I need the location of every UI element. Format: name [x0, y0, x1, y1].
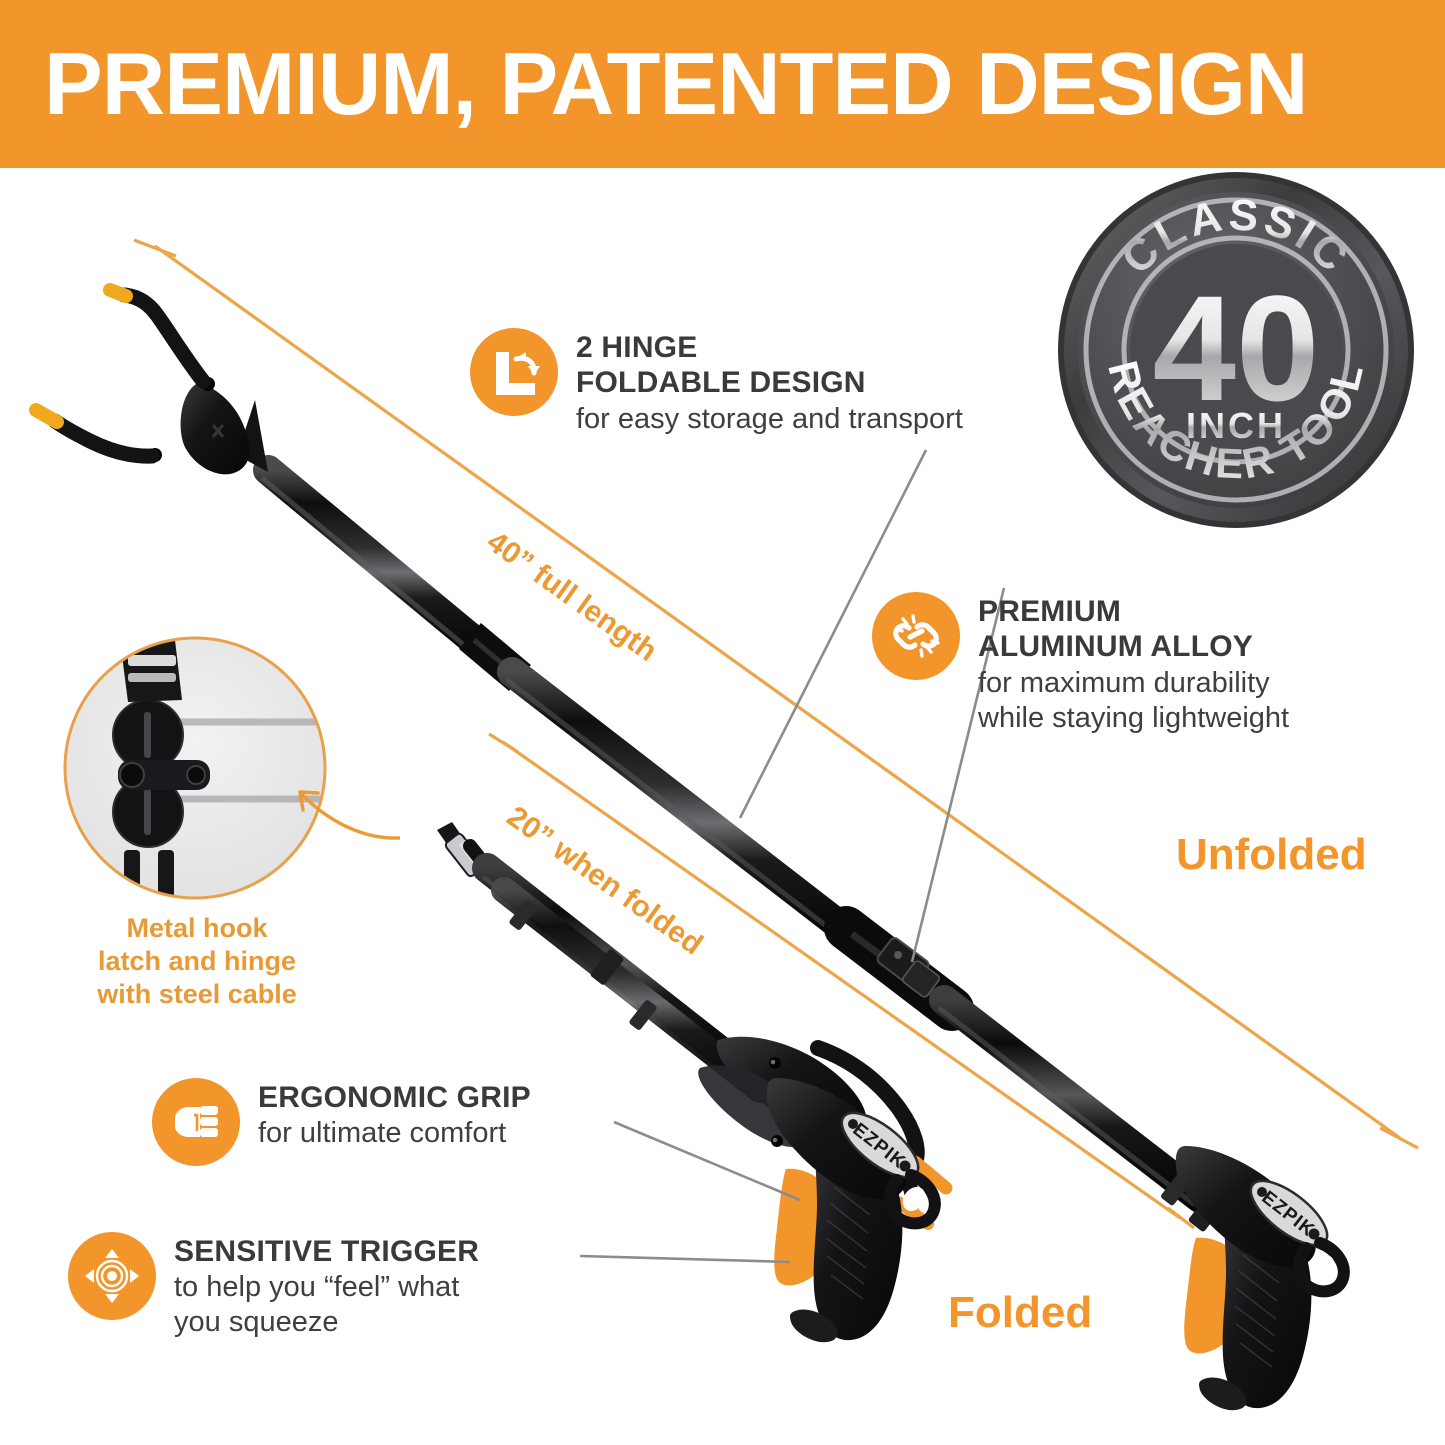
infographic-canvas: EZPIK: [0, 0, 1445, 1445]
header-banner: PREMIUM, PATENTED DESIGN: [0, 0, 1445, 168]
page-title: PREMIUM, PATENTED DESIGN: [0, 40, 1307, 128]
callout-title: 2 HINGE FOLDABLE DESIGN: [576, 330, 963, 401]
classic-40-inch-badge: CLASSIC 40 INCH REACHER TOOL: [1052, 166, 1420, 534]
leader-lines: [580, 450, 1004, 1262]
brand-nameplate: EZPIK: [1241, 1170, 1337, 1257]
folded-jaw-arms: [818, 1048, 946, 1224]
svg-text:EZPIK: EZPIK: [849, 1119, 910, 1173]
folded-handle-assembly: EZPIK: [767, 1078, 935, 1342]
state-label-folded: Folded: [948, 1288, 1092, 1338]
callout-subtitle: to help you “feel” what you squeeze: [174, 1270, 479, 1340]
sensitivity-target-icon: [68, 1232, 156, 1320]
hinge-detail-magnifier: [65, 638, 400, 905]
callout-ergonomic-grip[interactable]: ERGONOMIC GRIP for ultimate comfort: [152, 1078, 622, 1166]
callout-subtitle: for maximum durability while staying lig…: [978, 666, 1289, 736]
folded-jaw-tip: [437, 822, 500, 884]
callout-premium-aluminum-alloy[interactable]: PREMIUM ALUMINUM ALLOY for maximum durab…: [872, 592, 1392, 735]
mid-hinge-joint: [846, 928, 952, 1009]
callout-subtitle: for easy storage and transport: [576, 402, 963, 437]
unfolded-handle-assembly: EZPIK: [1176, 1146, 1344, 1410]
callout-title: ERGONOMIC GRIP: [258, 1080, 531, 1115]
callout-two-hinge-foldable[interactable]: 2 HINGE FOLDABLE DESIGN for easy storage…: [470, 328, 1040, 437]
callout-sensitive-trigger[interactable]: SENSITIVE TRIGGER to help you “feel” wha…: [68, 1232, 578, 1340]
trigger: [1184, 1238, 1250, 1354]
reacher-jaw-head: [36, 290, 268, 474]
chain-link-icon: [872, 592, 960, 680]
brand-nameplate: EZPIK: [832, 1102, 928, 1189]
folding-hinge-icon: [470, 328, 558, 416]
trigger: [774, 1169, 840, 1286]
svg-text:EZPIK: EZPIK: [1258, 1187, 1319, 1241]
callout-subtitle: for ultimate comfort: [258, 1116, 531, 1151]
callout-title: SENSITIVE TRIGGER: [174, 1234, 479, 1269]
callout-title: PREMIUM ALUMINUM ALLOY: [978, 594, 1289, 665]
state-label-unfolded: Unfolded: [1176, 830, 1367, 880]
dimension-label-full-length: 40” full length: [480, 525, 663, 669]
dimension-label-folded-length: 20” when folded: [500, 800, 708, 962]
fist-grip-icon: [152, 1078, 240, 1166]
hinge-detail-caption: Metal hook latch and hinge with steel ca…: [72, 912, 322, 1011]
